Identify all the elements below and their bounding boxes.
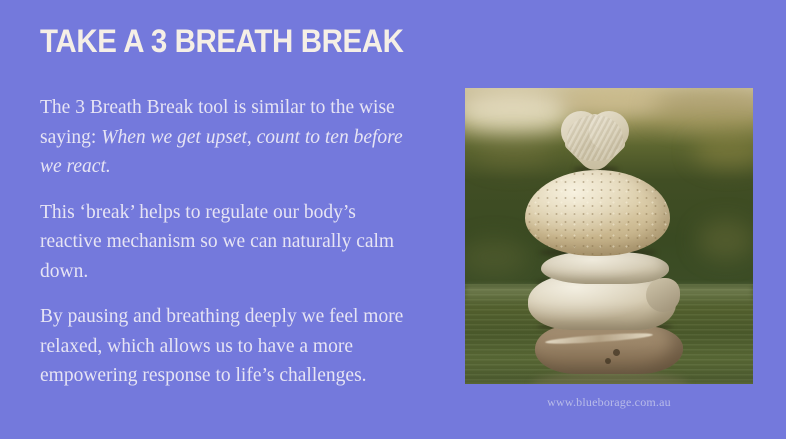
- website-url[interactable]: www.blueborage.com.au: [465, 395, 753, 410]
- background-blur-blob: [651, 88, 753, 128]
- flat-slab-stone: [541, 252, 669, 284]
- paragraph-2-lead: This ‘break’ helps to regulate our body’…: [40, 202, 394, 282]
- photo-background-scene: [465, 88, 753, 384]
- background-blur-blob: [693, 134, 753, 168]
- stone-pebble: [613, 349, 620, 356]
- background-blur-blob: [465, 238, 529, 276]
- stone-knob: [646, 278, 680, 312]
- background-blur-blob: [697, 220, 753, 260]
- cairn-photo: [465, 88, 753, 384]
- heart-stone-ridges: [567, 115, 623, 161]
- background-blur-blob: [465, 90, 573, 134]
- bottom-brown-stone: [535, 326, 683, 374]
- stone-pebble: [605, 358, 611, 364]
- body-copy: The 3 Breath Break tool is similar to th…: [40, 93, 412, 391]
- stone-vein: [545, 331, 653, 346]
- page-title: TAKE A 3 BREATH BREAK: [40, 24, 408, 58]
- paragraph-3-lead: By pausing and breathing deeply we feel …: [40, 306, 403, 386]
- heart-stone: [561, 111, 629, 169]
- paragraph-2: This ‘break’ helps to regulate our body’…: [40, 198, 412, 287]
- background-blur-blob: [473, 138, 553, 168]
- stone-speckle-texture: [525, 170, 670, 256]
- slide-canvas: TAKE A 3 BREATH BREAK The 3 Breath Break…: [0, 0, 786, 439]
- large-oval-stone: [525, 170, 670, 256]
- paragraph-3: By pausing and breathing deeply we feel …: [40, 302, 412, 391]
- paragraph-1: The 3 Breath Break tool is similar to th…: [40, 93, 412, 182]
